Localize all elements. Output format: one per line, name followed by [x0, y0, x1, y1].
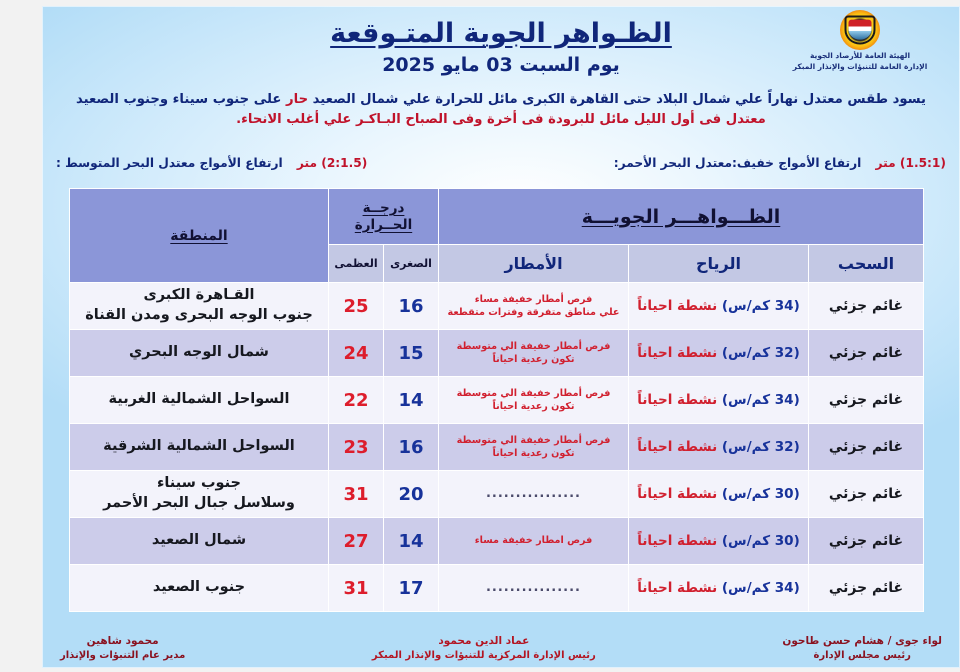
table-head: الظـــواهـــر الجويـــة درجــة الحــرارة… — [69, 189, 923, 283]
cell-clouds: غائم جزئي — [809, 330, 924, 377]
cell-wind: (32 كم/س) نشطة احياناً — [629, 424, 809, 471]
red-sea-wave-height: (1.5:1) متر — [876, 156, 946, 170]
cell-clouds: غائم جزئي — [809, 283, 924, 330]
cell-region: جنوب الصعيد — [69, 565, 328, 612]
wind-speed: (34 كم/س) — [722, 298, 800, 314]
forecast-director-role: مدير عام التنبؤات والإنذار — [60, 649, 185, 664]
med-sea-wave-height: (2:1.5) متر — [297, 156, 367, 170]
forecast-director-name: محمود شاهين — [60, 634, 185, 649]
wind-state: نشطة احياناً — [637, 533, 717, 549]
cell-rain: فرص أمطار خفيفة الي متوسطة تكون رعدية اح… — [439, 424, 629, 471]
cell-rain: فرص امطار خفيفة مساء — [439, 518, 629, 565]
cell-clouds: غائم جزئي — [809, 424, 924, 471]
page-header: الهيئة العامة للأرصاد الجوية الإدارة الع… — [42, 6, 960, 141]
cell-clouds: غائم جزئي — [809, 471, 924, 518]
table-header-row-groups: الظـــواهـــر الجويـــة درجــة الحــرارة… — [69, 189, 923, 245]
header-group-temperature: درجــة الحــرارة — [328, 189, 438, 245]
cell-temp-max: 31 — [328, 565, 383, 612]
cell-temp-min: 16 — [384, 424, 439, 471]
board-chairman-role: رئيس مجلس الإدارة — [782, 649, 942, 664]
table-row: غائم جزئي(34 كم/س) نشطة احياناًفرص أمطار… — [69, 377, 923, 424]
central-dept-head-name: عماد الدين محمود — [372, 634, 596, 649]
wind-state: نشطة احياناً — [637, 392, 717, 408]
table-row: غائم جزئي(34 كم/س) نشطة احياناً.........… — [69, 565, 923, 612]
forecast-table: الظـــواهـــر الجويـــة درجــة الحــرارة… — [69, 188, 924, 612]
table-row: غائم جزئي(32 كم/س) نشطة احياناًفرص أمطار… — [69, 424, 923, 471]
cell-region: السواحل الشمالية الشرقية — [69, 424, 328, 471]
wind-speed: (34 كم/س) — [722, 580, 800, 596]
header-region: المنطقة — [69, 189, 328, 283]
cell-rain: ................ — [439, 471, 629, 518]
table-row: غائم جزئي(30 كم/س) نشطة احياناً.........… — [69, 471, 923, 518]
wind-speed: (30 كم/س) — [722, 486, 800, 502]
header-wind: الرياح — [629, 245, 809, 283]
summary-hot-keyword: حار — [286, 92, 308, 107]
summary-line-1-part-2: على جنوب سيناء وجنوب الصعيد — [76, 92, 286, 107]
wind-speed: (32 كم/س) — [722, 439, 800, 455]
signature-forecast-director: محمود شاهين مدير عام التنبؤات والإنذار — [60, 634, 185, 664]
signature-board-chairman: لواء جوى / هشام حسن طاحون رئيس مجلس الإد… — [782, 634, 942, 664]
table-row: غائم جزئي(32 كم/س) نشطة احياناًفرص أمطار… — [69, 330, 923, 377]
weather-forecast-page: الهيئة العامة للأرصاد الجوية الإدارة الع… — [0, 0, 960, 672]
forecast-table-wrapper: الظـــواهـــر الجويـــة درجــة الحــرارة… — [70, 188, 924, 612]
cell-wind: (34 كم/س) نشطة احياناً — [629, 283, 809, 330]
cell-wind: (32 كم/س) نشطة احياناً — [629, 330, 809, 377]
cell-clouds: غائم جزئي — [809, 377, 924, 424]
med-sea-label: البحر المتوسط : — [56, 156, 154, 170]
cell-wind: (30 كم/س) نشطة احياناً — [629, 471, 809, 518]
red-sea-wave-label: ارتفاع الأمواج — [778, 156, 861, 170]
wind-state: نشطة احياناً — [637, 345, 717, 361]
header-group-phenomena: الظـــواهـــر الجويـــة — [439, 189, 924, 245]
cell-region: شمال الصعيد — [69, 518, 328, 565]
cell-clouds: غائم جزئي — [809, 518, 924, 565]
header-clouds: السحب — [809, 245, 924, 283]
cell-temp-min: 16 — [384, 283, 439, 330]
header-temp-max: العظمى — [328, 245, 383, 283]
signature-central-dept-head: عماد الدين محمود رئيس الإدارة المركزية ل… — [372, 634, 596, 664]
cell-region: السواحل الشمالية الغربية — [69, 377, 328, 424]
med-sea-state: معتدل — [158, 156, 195, 170]
table-row: غائم جزئي(30 كم/س) نشطة احياناًفرص امطار… — [69, 518, 923, 565]
cell-temp-min: 17 — [384, 565, 439, 612]
wind-state: نشطة احياناً — [637, 580, 717, 596]
cell-region: جنوب سيناء وسلاسل جبال البحر الأحمر — [69, 471, 328, 518]
page-title: الظـواهر الجوية المتـوقعة — [42, 18, 960, 49]
summary-line-1-part-1: يسود طقس معتدل نهاراً علي شمال البلاد حت… — [308, 92, 926, 107]
cell-temp-max: 23 — [328, 424, 383, 471]
cell-region: القـاهرة الكبرى جنوب الوجه البحرى ومدن ا… — [69, 283, 328, 330]
cell-wind: (34 كم/س) نشطة احياناً — [629, 565, 809, 612]
wind-speed: (30 كم/س) — [722, 533, 800, 549]
cell-temp-min: 20 — [384, 471, 439, 518]
cell-temp-max: 27 — [328, 518, 383, 565]
table-row: غائم جزئي(34 كم/س) نشطة احياناًفرص أمطار… — [69, 283, 923, 330]
sea-conditions-row: (1.5:1) متر ارتفاع الأمواج خفيف:معتدل ال… — [56, 152, 946, 174]
board-chairman-name: لواء جوى / هشام حسن طاحون — [782, 634, 942, 649]
cell-wind: (30 كم/س) نشطة احياناً — [629, 518, 809, 565]
wind-state: نشطة احياناً — [637, 298, 717, 314]
page-footer: لواء جوى / هشام حسن طاحون رئيس مجلس الإد… — [60, 634, 942, 668]
cell-rain: ................ — [439, 565, 629, 612]
cell-rain: فرص أمطار خفيفة الي متوسطة تكون رعدية اح… — [439, 330, 629, 377]
cell-temp-min: 14 — [384, 518, 439, 565]
table-body: غائم جزئي(34 كم/س) نشطة احياناًفرص أمطار… — [69, 283, 923, 612]
wind-state: نشطة احياناً — [637, 486, 717, 502]
wind-speed: (32 كم/س) — [722, 345, 800, 361]
cell-clouds: غائم جزئي — [809, 565, 924, 612]
wind-state: نشطة احياناً — [637, 439, 717, 455]
cell-temp-max: 22 — [328, 377, 383, 424]
central-dept-head-role: رئيس الإدارة المركزية للتنبؤات والإنذار … — [372, 649, 596, 664]
red-sea-conditions: (1.5:1) متر ارتفاع الأمواج خفيف:معتدل ال… — [614, 156, 946, 170]
red-sea-state: خفيف:معتدل — [695, 156, 774, 170]
cell-temp-min: 15 — [384, 330, 439, 377]
forecast-summary: يسود طقس معتدل نهاراً علي شمال البلاد حت… — [60, 90, 942, 131]
forecast-date: يوم السبت 03 مايو 2025 — [42, 54, 960, 76]
cell-wind: (34 كم/س) نشطة احياناً — [629, 377, 809, 424]
mediterranean-sea-conditions: (2:1.5) متر ارتفاع الأمواج معتدل البحر ا… — [56, 156, 367, 170]
wind-speed: (34 كم/س) — [722, 392, 800, 408]
cell-rain: فرص أمطار خفيفة مساء علي مناطق متفرقة وف… — [439, 283, 629, 330]
cell-temp-min: 14 — [384, 377, 439, 424]
summary-line-1: يسود طقس معتدل نهاراً علي شمال البلاد حت… — [60, 90, 942, 110]
summary-line-2: معتدل فى أول الليل مائل للبرودة فى أخرة … — [60, 110, 942, 130]
forecast-card: الهيئة العامة للأرصاد الجوية الإدارة الع… — [42, 6, 960, 668]
header-temp-min: الصغرى — [384, 245, 439, 283]
cell-temp-max: 24 — [328, 330, 383, 377]
red-sea-label: البحر الأحمر: — [614, 156, 691, 170]
cell-temp-max: 25 — [328, 283, 383, 330]
cell-temp-max: 31 — [328, 471, 383, 518]
cell-region: شمال الوجه البحري — [69, 330, 328, 377]
cell-rain: فرص أمطار خفيفة الي متوسطة تكون رعدية اح… — [439, 377, 629, 424]
header-rain: الأمطار — [439, 245, 629, 283]
med-sea-wave-label: ارتفاع الأمواج — [200, 156, 283, 170]
